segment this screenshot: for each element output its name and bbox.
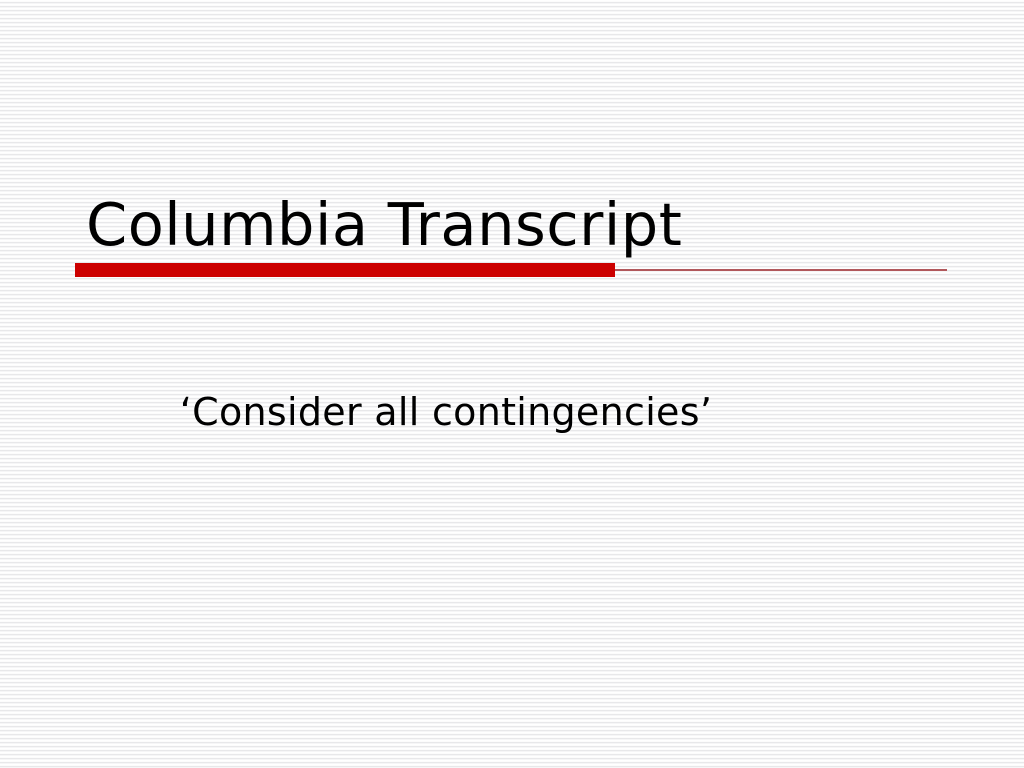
slide: Columbia Transcript ‘Consider all contin… [0,0,1024,768]
slide-subtitle: ‘Consider all contingencies’ [86,386,806,438]
title-placeholder[interactable]: Columbia Transcript [86,190,946,262]
title-accent-rule [75,263,947,278]
slide-title: Columbia Transcript [86,190,946,260]
accent-thick-bar [75,263,615,277]
slide-background-texture [0,0,1024,768]
subtitle-placeholder[interactable]: ‘Consider all contingencies’ [86,386,806,442]
